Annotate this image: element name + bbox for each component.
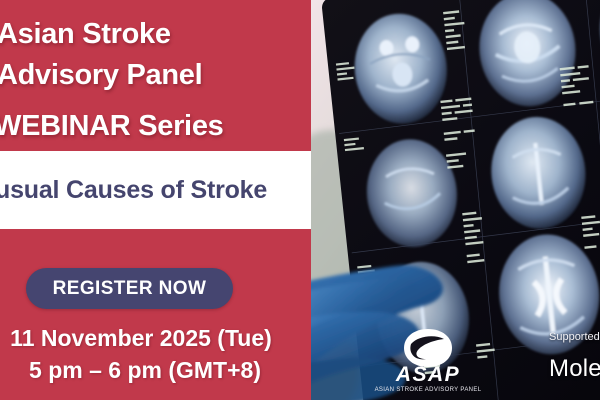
hero-photo-panel: ASAP ASIAN STROKE ADVISORY PANEL Support… (311, 0, 600, 400)
event-date: 11 November 2025 (Tue) (0, 322, 290, 354)
subtitle-band: usual Causes of Stroke (0, 151, 311, 229)
register-now-button[interactable]: REGISTER NOW (26, 268, 233, 309)
mri-brain-scan-photo (311, 0, 600, 400)
left-red-panel: Asian Stroke Advisory Panel WEBINAR Seri… (0, 0, 311, 400)
heading-line-organization-1: Asian Stroke (0, 14, 311, 55)
webinar-topic-title: usual Causes of Stroke (0, 175, 267, 205)
heading-line-series: WEBINAR Series (0, 106, 311, 147)
event-time: 5 pm – 6 pm (GMT+8) (0, 354, 290, 386)
heading-line-organization-2: Advisory Panel (0, 55, 311, 96)
event-heading: Asian Stroke Advisory Panel WEBINAR Seri… (0, 14, 311, 147)
webinar-promo-banner: Asian Stroke Advisory Panel WEBINAR Seri… (0, 0, 600, 400)
event-datetime: 11 November 2025 (Tue) 5 pm – 6 pm (GMT+… (0, 322, 290, 386)
